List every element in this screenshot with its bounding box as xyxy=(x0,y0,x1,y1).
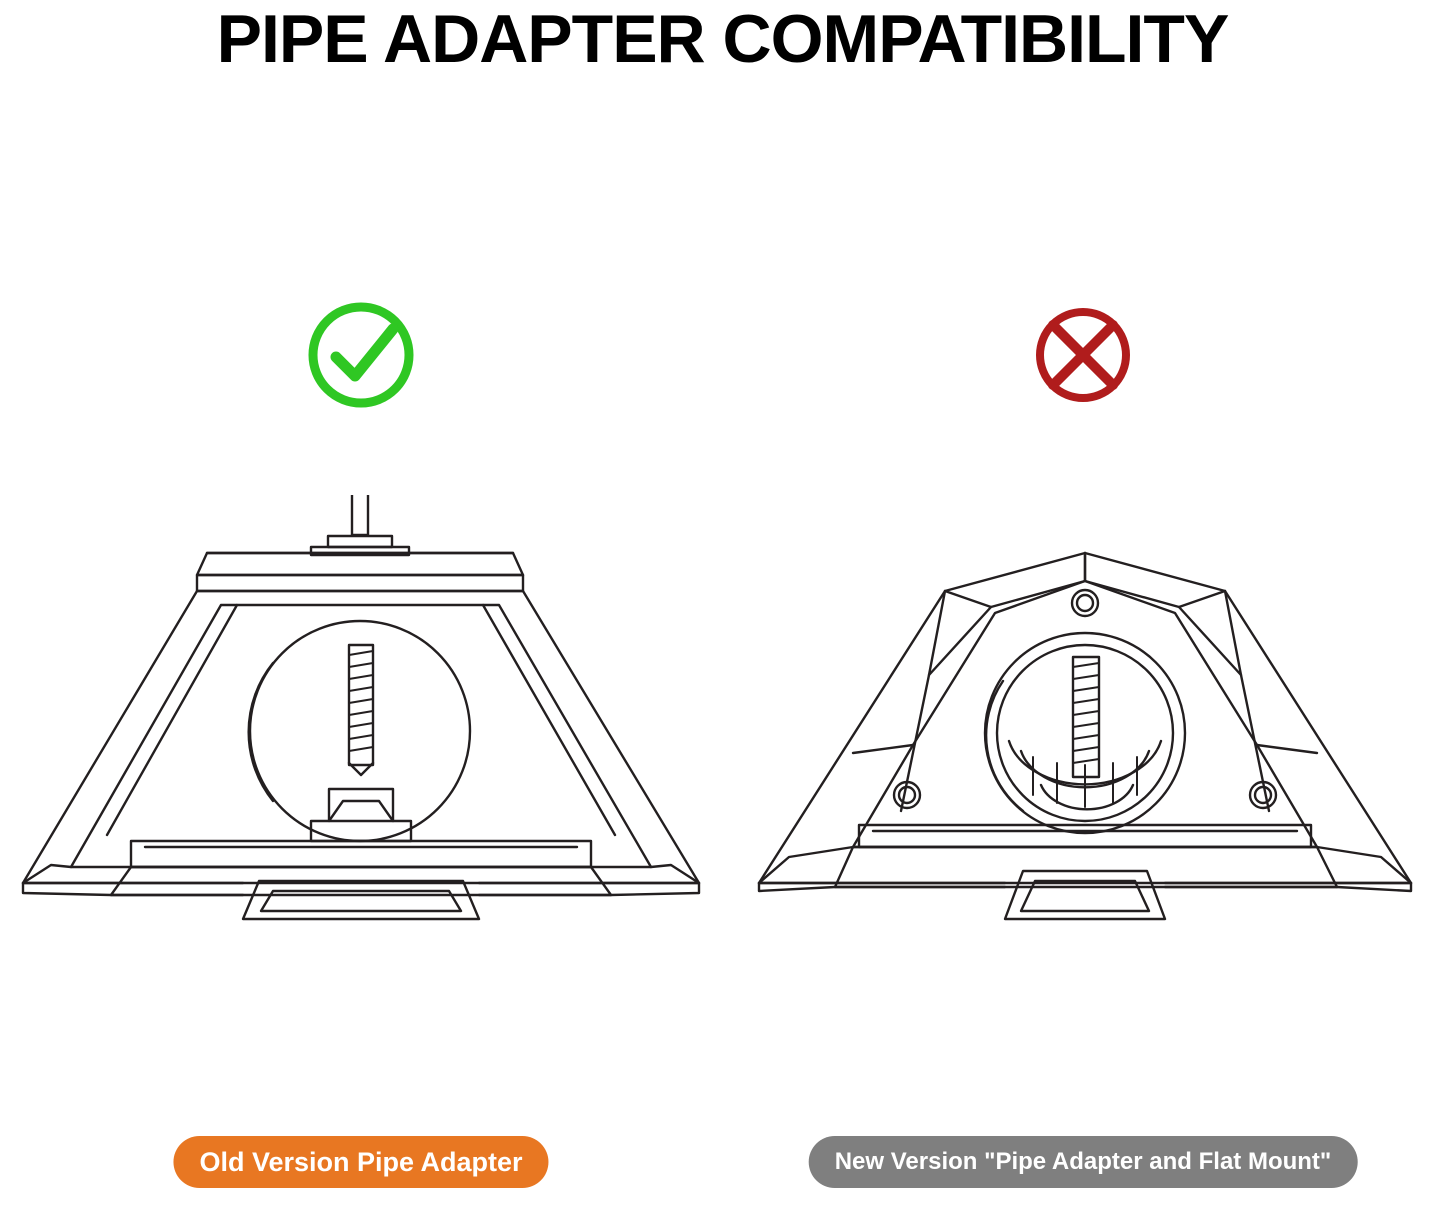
pipe-adapter-new-illustration xyxy=(733,495,1433,955)
cross-circle-icon xyxy=(1023,295,1143,415)
comparison-columns: Old Version Pipe Adapter xyxy=(0,250,1445,1200)
pipe-adapter-old-illustration xyxy=(11,495,711,955)
badge-new-version: New Version "Pipe Adapter and Flat Mount… xyxy=(809,1136,1358,1188)
check-circle-icon xyxy=(301,295,421,415)
comparison-column-new: New Version "Pipe Adapter and Flat Mount… xyxy=(722,250,1444,1200)
badge-old-version: Old Version Pipe Adapter xyxy=(173,1136,548,1188)
page-title: PIPE ADAPTER COMPATIBILITY xyxy=(0,0,1445,78)
comparison-column-old: Old Version Pipe Adapter xyxy=(0,250,722,1200)
